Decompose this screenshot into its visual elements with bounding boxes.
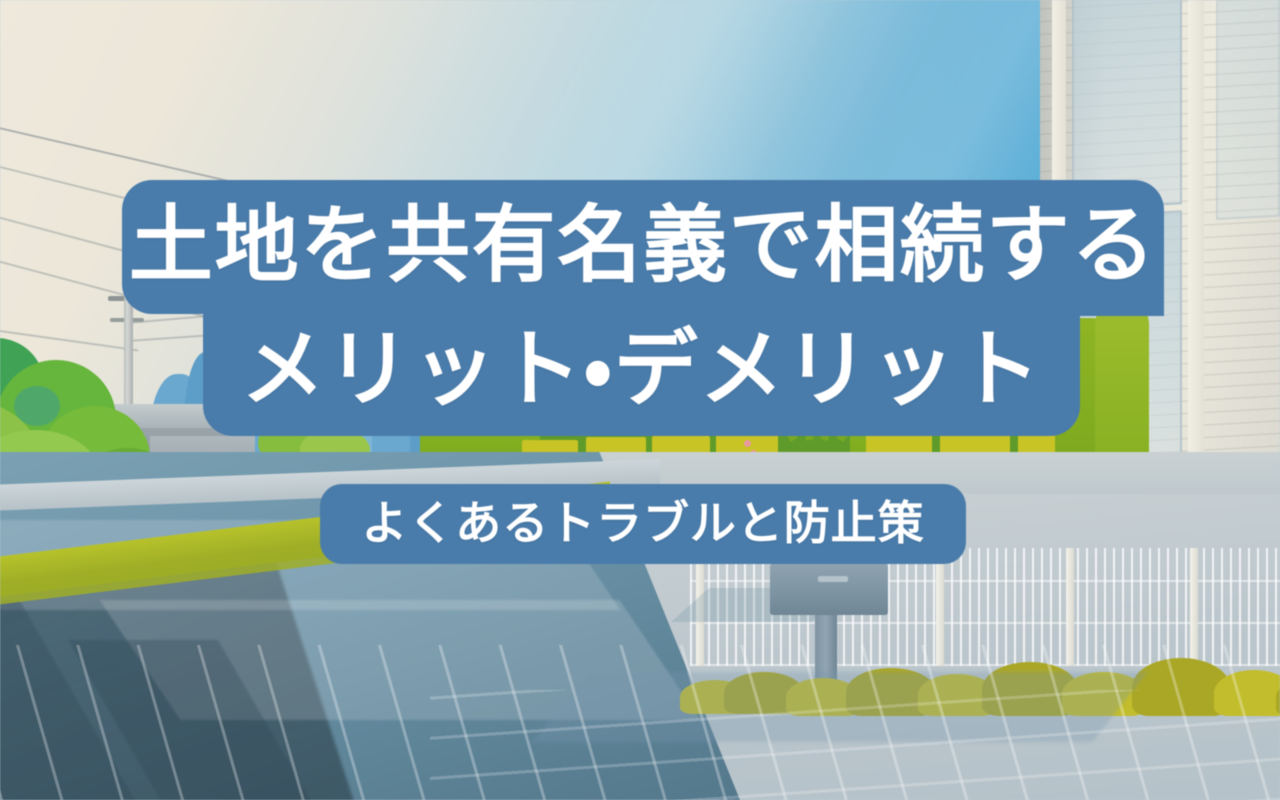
subtitle-badge: よくあるトラブルと防止策: [320, 484, 966, 564]
text-overlay: 土地を共有名義で相続する メリット・デメリット よくあるトラブルと防止策: [0, 0, 1280, 800]
headline-line-1: 土地を共有名義で相続する: [122, 180, 1164, 314]
headline-line-2: メリット・デメリット: [203, 306, 1080, 436]
banner-canvas: 土地を共有名義で相続する メリット・デメリット よくあるトラブルと防止策: [0, 0, 1280, 800]
